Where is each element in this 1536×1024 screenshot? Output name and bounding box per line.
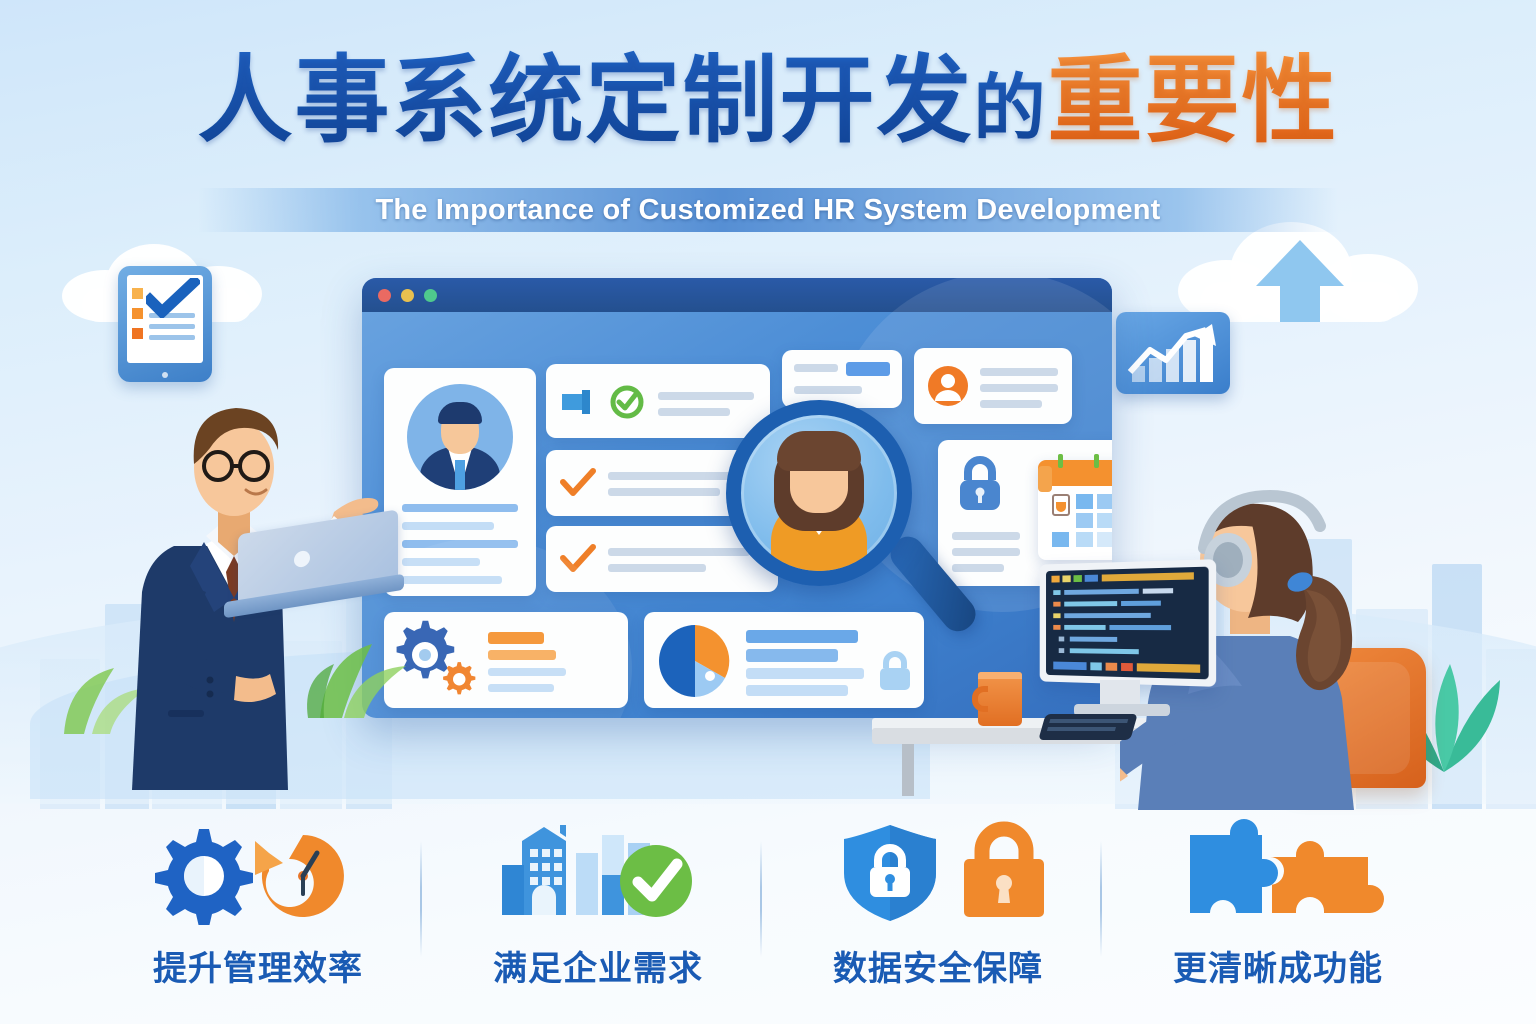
monitor-with-code xyxy=(1034,562,1226,724)
check-circle-icon xyxy=(620,845,692,917)
orange-check-icon xyxy=(560,544,596,574)
feature-strip: 提升管理效率 xyxy=(0,799,1536,1024)
tag-icon xyxy=(560,388,594,416)
clock-icon xyxy=(255,835,344,917)
cloud-upload-icon xyxy=(1178,216,1418,324)
trend-arrow-icon xyxy=(1126,320,1222,378)
padlock-icon xyxy=(964,829,1044,917)
laptop-icon xyxy=(224,522,400,618)
lock-icon xyxy=(952,454,1008,514)
feature-label: 满足企业需求 xyxy=(428,941,768,990)
feature-icons xyxy=(768,817,1108,927)
calendar-icon xyxy=(1038,460,1112,560)
padlock-icon xyxy=(876,650,914,694)
orange-check-icon xyxy=(560,468,596,498)
orange-user-icon xyxy=(926,364,970,408)
title-connector: 的 xyxy=(973,66,1047,150)
feature-icons xyxy=(88,817,428,927)
contact-record-card[interactable] xyxy=(914,348,1072,424)
feature-icons xyxy=(428,817,768,927)
poster-title: 人事系统定制开发的重要性 xyxy=(0,52,1536,152)
feature-label: 数据安全保障 xyxy=(768,941,1108,990)
feature-item-efficiency[interactable]: 提升管理效率 xyxy=(88,817,428,990)
gear-icon xyxy=(155,829,253,925)
shield-padlock-icon-group xyxy=(828,819,1048,925)
shield-lock-icon xyxy=(844,825,936,921)
maximize-dot-icon[interactable] xyxy=(424,289,437,302)
minimize-dot-icon[interactable] xyxy=(401,289,414,302)
building-chart-check-icon-group xyxy=(488,819,708,925)
puzzle-pieces-icon-group xyxy=(1168,819,1388,925)
magnifier-search-icon[interactable] xyxy=(726,400,912,586)
feature-item-data-security[interactable]: 数据安全保障 xyxy=(768,817,1108,990)
analytics-card[interactable] xyxy=(644,612,924,708)
title-main-blue: 人事系统定制开发 xyxy=(197,46,973,156)
feature-item-integration[interactable]: 更清晰成功能 xyxy=(1108,817,1448,990)
close-dot-icon[interactable] xyxy=(378,289,391,302)
feature-label: 提升管理效率 xyxy=(88,941,428,990)
building-icon xyxy=(502,825,566,915)
up-arrow-icon xyxy=(1240,230,1360,326)
female-employee-avatar xyxy=(741,415,897,571)
check-mark-icon xyxy=(146,278,200,318)
coffee-mug-icon xyxy=(972,672,1028,728)
businessman-presenter xyxy=(128,360,428,790)
poster-subtitle: The Importance of Customized HR System D… xyxy=(0,190,1536,230)
title-main-orange: 重要性 xyxy=(1048,46,1339,156)
feature-label: 更清晰成功能 xyxy=(1108,941,1448,990)
growth-chart-icon xyxy=(1116,312,1230,394)
keyboard-icon xyxy=(1038,714,1137,740)
feature-item-enterprise-needs[interactable]: 满足企业需求 xyxy=(428,817,768,990)
magnifier-lens xyxy=(726,400,912,586)
puzzle-piece-orange-icon xyxy=(1270,841,1384,913)
gear-clock-icon-group xyxy=(133,819,383,925)
green-check-icon xyxy=(610,385,644,419)
poster-canvas: 人事系统定制开发的重要性 The Importance of Customize… xyxy=(0,0,1536,1024)
pie-chart-icon xyxy=(654,620,736,702)
desk-leg xyxy=(902,744,914,796)
feature-icons xyxy=(1108,817,1448,927)
puzzle-piece-blue-icon xyxy=(1190,819,1278,913)
